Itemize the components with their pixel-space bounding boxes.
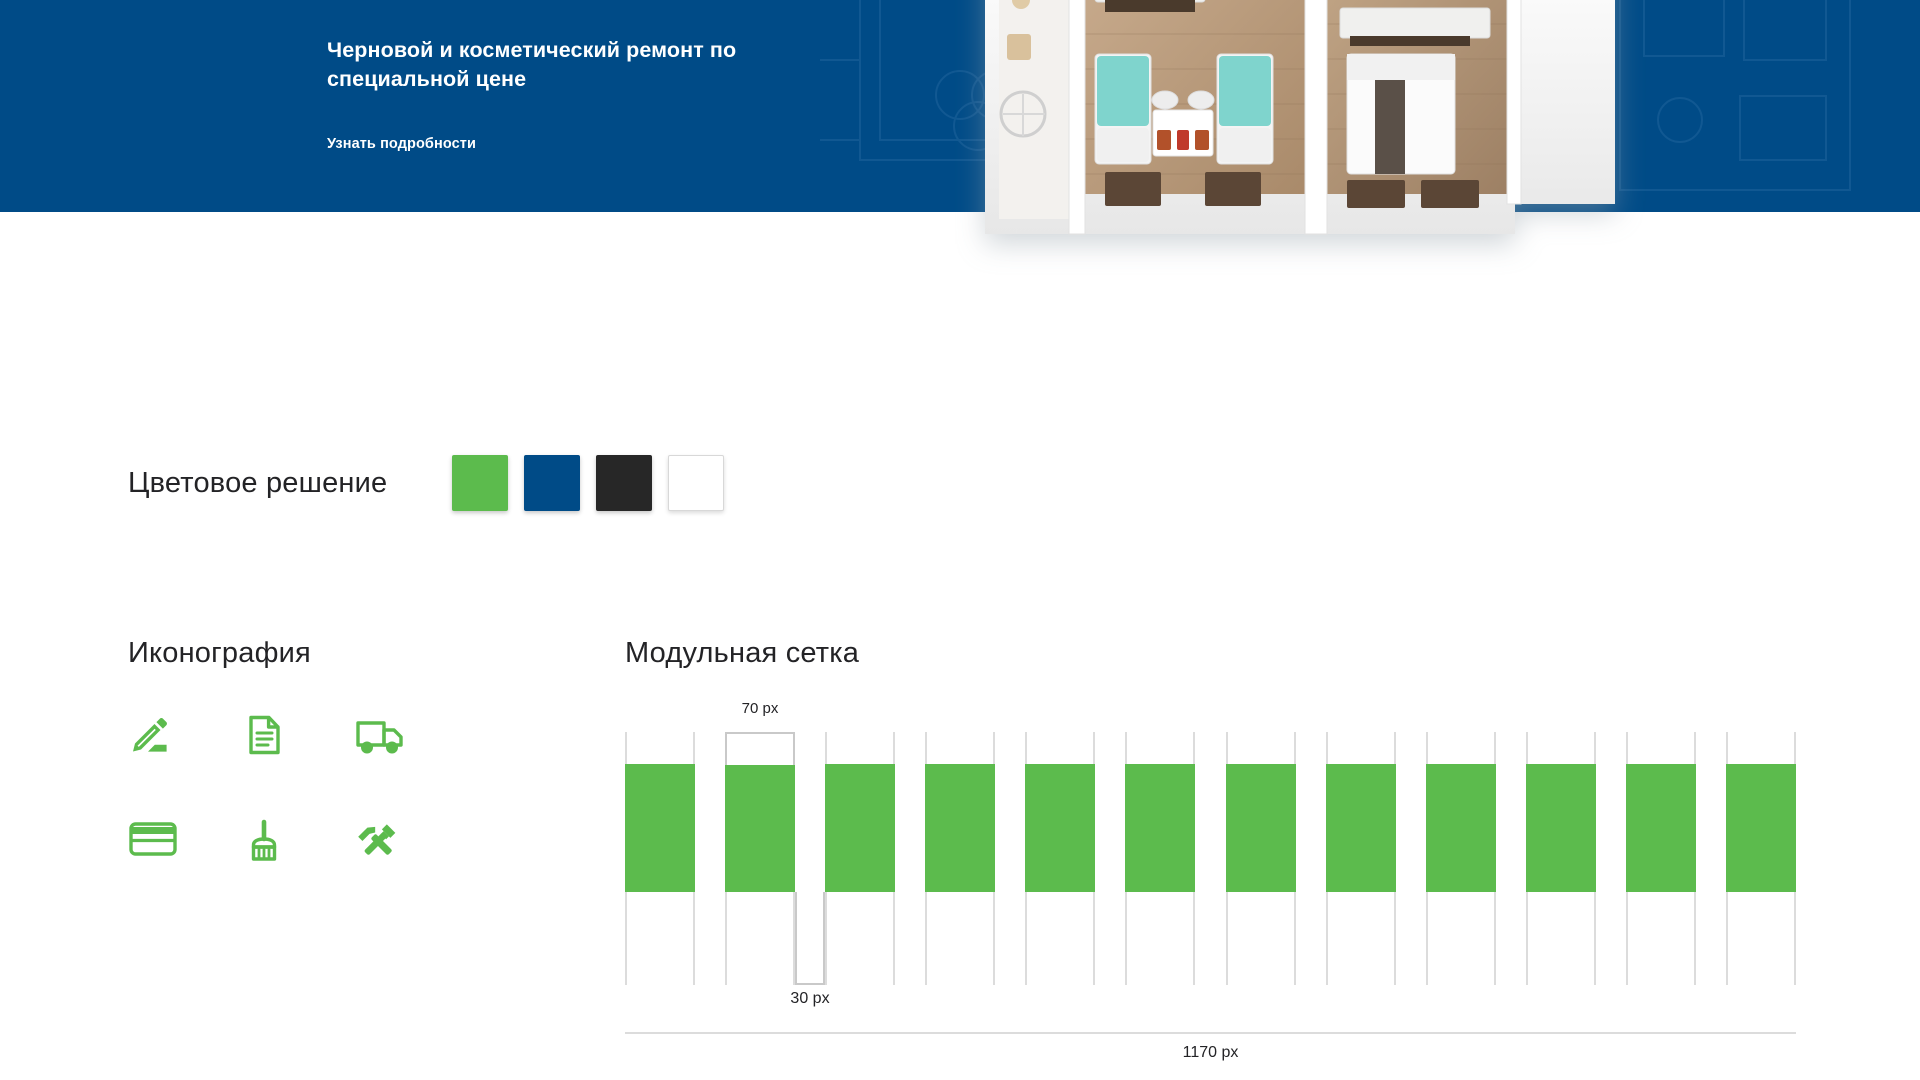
color-swatch-green[interactable] (452, 455, 508, 511)
grid-column-5 (1025, 764, 1095, 892)
grid-column-3 (825, 764, 895, 892)
color-swatch-white[interactable] (668, 455, 724, 511)
grid-baseline (625, 1032, 1796, 1034)
banner-text: Черновой и косметический ремонт по специ… (327, 36, 847, 153)
brandbook-page: Черновой и косметический ремонт по специ… (0, 0, 1920, 1080)
truck-icon[interactable] (354, 712, 467, 818)
grid-diagram: 70 px 30 px 1170 px (625, 732, 1796, 977)
modular-grid-section: Модульная сетка 70 px 30 px 1170 px (625, 637, 1800, 670)
gutter-width-label: 30 px (755, 990, 865, 1008)
color-swatch-list (452, 455, 724, 511)
grid-column-11 (1626, 764, 1696, 892)
grid-column-2 (725, 764, 795, 892)
grid-column-9 (1426, 764, 1496, 892)
icons-section-title: Иконография (128, 637, 558, 670)
grid-column-12 (1726, 764, 1796, 892)
document-icon[interactable] (241, 712, 354, 818)
grid-section-title: Модульная сетка (625, 637, 1800, 670)
icon-grid (128, 712, 558, 924)
color-swatch-dark[interactable] (596, 455, 652, 511)
grid-column-8 (1326, 764, 1396, 892)
color-section-title: Цветовое решение (128, 467, 387, 500)
broom-icon[interactable] (241, 818, 354, 924)
banner-title: Черновой и косметический ремонт по специ… (327, 36, 847, 93)
gutter-width-bracket (795, 892, 825, 985)
color-swatch-blue[interactable] (524, 455, 580, 511)
tools-icon[interactable] (354, 818, 467, 924)
grid-column-10 (1526, 764, 1596, 892)
apartment-floorplan-image (955, 0, 1655, 294)
iconography-section: Иконография (128, 637, 558, 924)
pencil-icon[interactable] (128, 712, 241, 818)
color-scheme-section: Цветовое решение (128, 455, 724, 511)
promo-banner: Черновой и косметический ремонт по специ… (0, 0, 1920, 212)
grid-column-1 (625, 764, 695, 892)
grid-total-width-label: 1170 px (625, 1044, 1796, 1062)
credit-card-icon[interactable] (128, 818, 241, 924)
grid-column-7 (1226, 764, 1296, 892)
column-width-label: 70 px (725, 700, 795, 717)
grid-column-6 (1125, 764, 1195, 892)
grid-column-4 (925, 764, 995, 892)
banner-link[interactable]: Узнать подробности (327, 136, 476, 152)
column-width-bracket (725, 732, 795, 765)
